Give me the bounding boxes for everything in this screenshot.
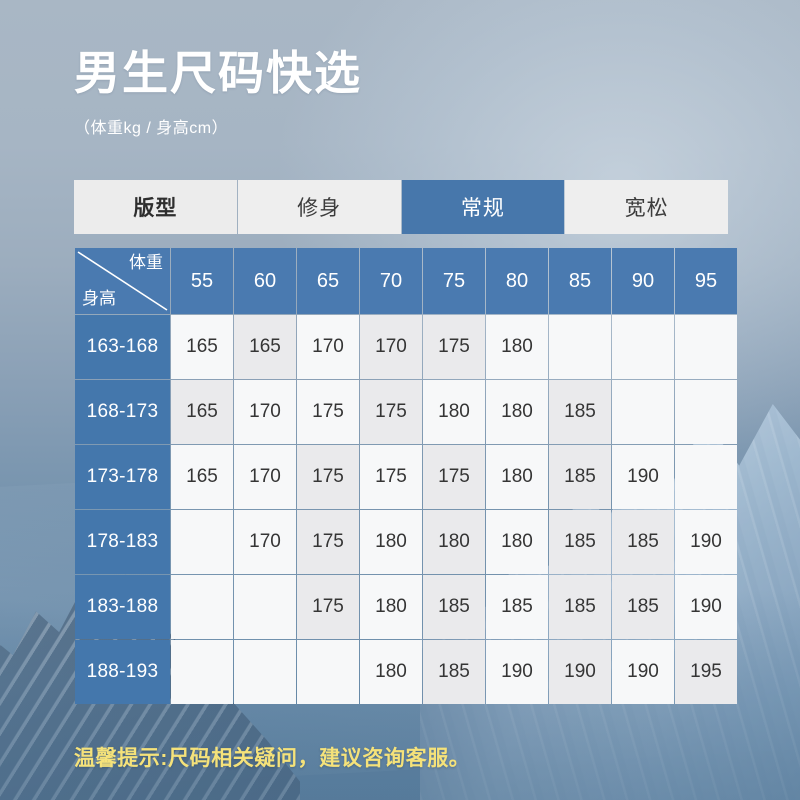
table-cell: 185 [612,510,674,574]
table-cell: 165 [171,315,233,379]
table-cell: 185 [549,445,611,509]
table-cell: 180 [486,380,548,444]
size-chart-table: 体重 身高 55 60 65 70 75 80 85 90 95 163-168… [74,247,738,705]
table-row: 163-168 165 165 170 170 175 180 [75,315,737,379]
table-cell [612,380,674,444]
title-block: 男生尺码快选 （体重kg / 身高cm） [74,48,362,138]
column-header-weight-90: 90 [612,248,674,314]
size-chart-page: 男生尺码快选 （体重kg / 身高cm） 版型 修身 常规 宽松 体重 身高 [0,0,800,800]
table-cell: 170 [234,380,296,444]
table-cell: 185 [549,510,611,574]
table-cell [171,640,233,704]
table-cell: 165 [171,380,233,444]
row-header-height-173-178: 173-178 [75,445,170,509]
row-header-height-163-168: 163-168 [75,315,170,379]
footer-note: 温馨提示:尺码相关疑问，建议咨询客服。 [74,742,470,772]
table-cell: 175 [423,445,485,509]
row-header-height-183-188: 183-188 [75,575,170,639]
page-subtitle: （体重kg / 身高cm） [74,114,362,138]
table-cell [675,380,737,444]
column-header-weight-70: 70 [360,248,422,314]
table-cell: 190 [675,510,737,574]
table-cell [675,445,737,509]
table-cell: 175 [360,380,422,444]
table-cell: 185 [612,575,674,639]
table-cell [234,640,296,704]
table-cell: 185 [423,640,485,704]
table-cell: 165 [234,315,296,379]
table-cell [234,575,296,639]
tab-slim-fit[interactable]: 修身 [238,180,401,234]
table-cell: 180 [486,315,548,379]
table-cell: 165 [171,445,233,509]
table-cell: 195 [675,640,737,704]
column-header-weight-95: 95 [675,248,737,314]
column-header-weight-65: 65 [297,248,359,314]
row-header-height-168-173: 168-173 [75,380,170,444]
table-cell: 190 [486,640,548,704]
table-cell: 180 [486,510,548,574]
column-header-weight-75: 75 [423,248,485,314]
table-cell: 175 [297,575,359,639]
table-cell [297,640,359,704]
table-cell [171,510,233,574]
page-title: 男生尺码快选 [74,48,362,100]
table-cell: 170 [297,315,359,379]
table-cell: 185 [549,575,611,639]
table-header-row: 体重 身高 55 60 65 70 75 80 85 90 95 [75,248,737,314]
table-body: 163-168 165 165 170 170 175 180 168-173 … [75,315,737,704]
table-cell [612,315,674,379]
corner-height-label: 身高 [82,290,116,307]
table-cell: 190 [612,640,674,704]
table-cell: 190 [675,575,737,639]
table-cell: 180 [486,445,548,509]
table-corner-cell: 体重 身高 [75,248,170,314]
table-cell: 175 [423,315,485,379]
row-header-height-178-183: 178-183 [75,510,170,574]
table-cell: 185 [423,575,485,639]
tab-regular-fit[interactable]: 常规 [402,180,565,234]
table-cell: 170 [360,315,422,379]
tab-label-fit-type: 版型 [74,180,237,234]
table-cell: 180 [423,510,485,574]
table-cell: 190 [549,640,611,704]
table-cell: 190 [612,445,674,509]
table-row: 168-173 165 170 175 175 180 180 185 [75,380,737,444]
table-cell: 185 [549,380,611,444]
fit-type-tab-bar: 版型 修身 常规 宽松 [74,180,728,234]
table-header: 体重 身高 55 60 65 70 75 80 85 90 95 [75,248,737,314]
corner-weight-label: 体重 [129,254,163,271]
table-cell: 180 [360,575,422,639]
table-row: 173-178 165 170 175 175 175 180 185 190 [75,445,737,509]
tab-loose-fit[interactable]: 宽松 [565,180,728,234]
table-cell: 185 [486,575,548,639]
column-header-weight-85: 85 [549,248,611,314]
table-cell: 180 [360,510,422,574]
column-header-weight-60: 60 [234,248,296,314]
table-cell [549,315,611,379]
table-cell: 175 [297,510,359,574]
table-cell: 175 [297,380,359,444]
table-cell: 175 [360,445,422,509]
table-cell: 175 [297,445,359,509]
table-row: 183-188 175 180 185 185 185 185 190 [75,575,737,639]
row-header-height-188-193: 188-193 [75,640,170,704]
table-cell [675,315,737,379]
table-cell [171,575,233,639]
column-header-weight-55: 55 [171,248,233,314]
table-cell: 170 [234,445,296,509]
table-cell: 180 [360,640,422,704]
column-header-weight-80: 80 [486,248,548,314]
table-cell: 170 [234,510,296,574]
table-cell: 180 [423,380,485,444]
table-row: 178-183 170 175 180 180 180 185 185 190 [75,510,737,574]
table-row: 188-193 180 185 190 190 190 195 [75,640,737,704]
